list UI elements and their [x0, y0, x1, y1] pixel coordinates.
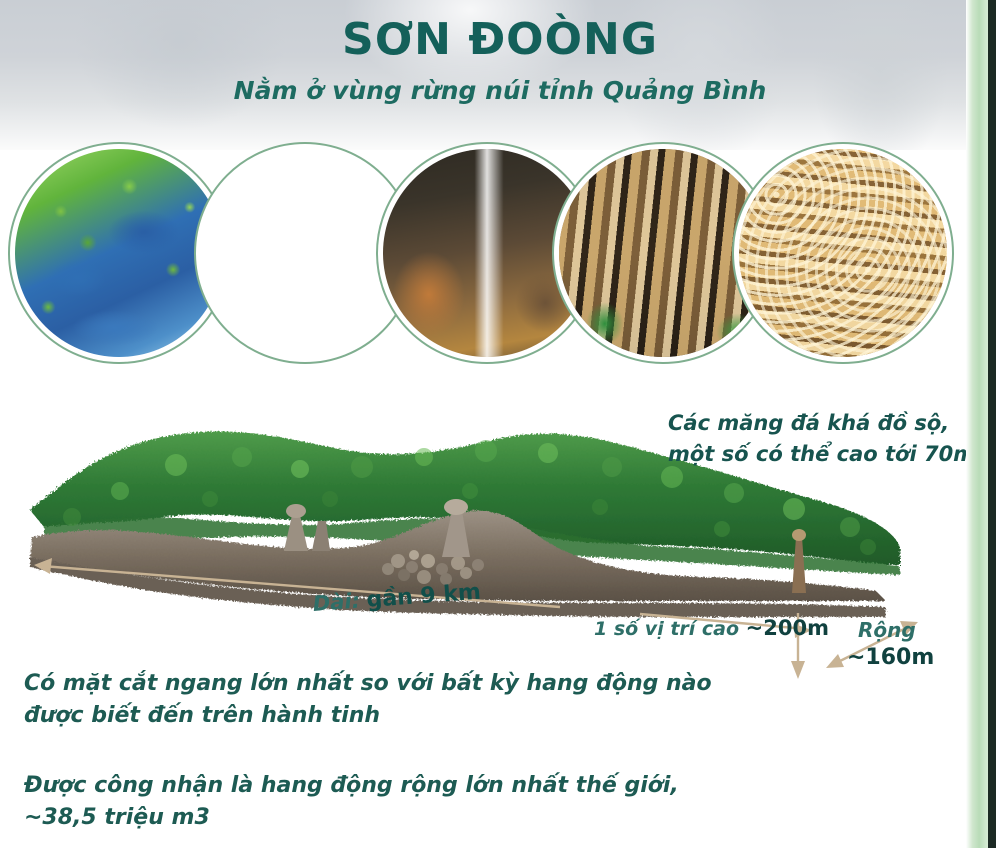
right-edge-green-stripe: [966, 0, 988, 848]
fact-world-largest: Được công nhận là hang động rộng lớn nhấ…: [24, 770, 744, 834]
height-arrow-head-down: [791, 661, 805, 679]
fact-cross-section: Có mặt cắt ngang lớn nhất so với bất kỳ …: [24, 668, 744, 732]
width-measurement-label: Rộng: [858, 618, 916, 642]
stalagmite-annotation-line1: Các măng đá khá đồ sộ,: [668, 408, 988, 439]
height-label-text: 1 số vị trí cao: [594, 618, 739, 640]
width-measurement-value: ~160m: [847, 645, 934, 670]
fact-cross-section-line2: được biết đến trên hành tinh: [24, 700, 744, 732]
infographic-root: SƠN ĐOÒNG Nằm ở vùng rừng núi tỉnh Quảng…: [0, 0, 1000, 848]
right-edge-dark-border: [988, 0, 996, 848]
stalagmite-annotation: Các măng đá khá đồ sộ, một số có thể cao…: [668, 408, 988, 470]
height-value-text: ~200m: [746, 616, 829, 640]
fact-world-largest-line1: Được công nhận là hang động rộng lớn nhấ…: [24, 770, 744, 802]
photo-circle-cave-pearls-rimstone[interactable]: [732, 142, 954, 364]
photo-forest-lake-aerial: [15, 149, 223, 357]
stalagmite-annotation-line2: một số có thể cao tới 70m: [668, 439, 988, 470]
right-edge-white-margin: [996, 0, 1000, 848]
fact-cross-section-line1: Có mặt cắt ngang lớn nhất so với bất kỳ …: [24, 668, 744, 700]
length-label-text: Dài:: [312, 589, 361, 616]
page-title: SƠN ĐOÒNG: [0, 14, 1000, 65]
height-measurement-label: 1 số vị trí cao ~200m: [594, 616, 829, 640]
photo-circle-row: [0, 140, 1000, 380]
photo-cave-pearls-rimstone: [739, 149, 947, 357]
fact-world-largest-line2: ~38,5 triệu m3: [24, 802, 744, 834]
page-subtitle: Nằm ở vùng rừng núi tỉnh Quảng Bình: [0, 76, 1000, 105]
